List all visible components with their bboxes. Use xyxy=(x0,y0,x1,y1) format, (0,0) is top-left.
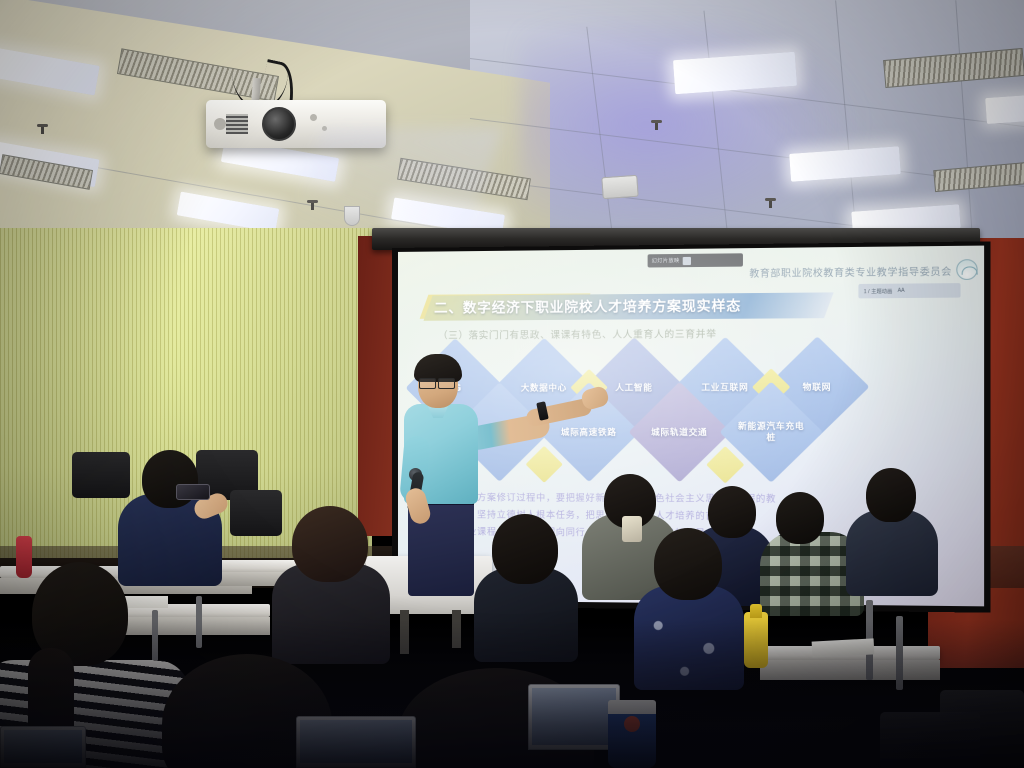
ceiling-speaker xyxy=(601,175,638,199)
projector-lens-icon xyxy=(262,107,296,141)
sprinkler-head xyxy=(654,120,659,134)
ceiling-blue-glow xyxy=(520,20,880,250)
laptop-center[interactable] xyxy=(528,684,620,750)
person-torso xyxy=(634,586,744,690)
photo-scene: 幻灯片放映 教育部职业院校教育类专业教学指导委员会 1 / 主题动画 AA 二、… xyxy=(0,0,1024,768)
red-water-bottle xyxy=(16,536,32,578)
person-torso xyxy=(846,510,938,596)
person-head xyxy=(292,506,368,582)
coffee-cup xyxy=(608,700,656,768)
laptop-screen xyxy=(532,688,616,745)
desk-front-panel xyxy=(760,660,940,680)
ceiling-light-panel xyxy=(985,94,1024,124)
slideshow-status-bar[interactable]: 幻灯片放映 xyxy=(648,253,743,267)
laptop-screen xyxy=(4,730,82,763)
laptop-far-left[interactable] xyxy=(0,726,86,768)
lectern-leg xyxy=(400,610,409,654)
projector-focus-ring xyxy=(214,118,226,130)
paper-document xyxy=(812,638,875,657)
projector-knob xyxy=(310,114,317,121)
person-head xyxy=(866,468,916,522)
bottle-cap xyxy=(750,604,762,618)
yellow-water-bottle xyxy=(744,612,768,668)
cup-logo-icon xyxy=(624,716,640,732)
page-indicator: 1 / 主题动画 xyxy=(864,287,893,294)
person-head xyxy=(654,528,722,600)
laptop-screen xyxy=(300,720,412,763)
sprinkler-head xyxy=(768,198,773,212)
chair-leg xyxy=(196,596,202,648)
person-head xyxy=(492,514,558,584)
sprinkler-head xyxy=(40,124,45,138)
person-photographing xyxy=(116,450,226,580)
person-back-row xyxy=(846,468,938,592)
smartphone xyxy=(176,484,210,500)
person-dark-hair-mid xyxy=(474,514,578,654)
chair-backrest xyxy=(880,712,980,768)
laptop-left[interactable] xyxy=(296,716,416,768)
committee-logo-icon xyxy=(956,259,977,280)
ceiling xyxy=(0,0,1024,252)
chair-leg xyxy=(896,616,903,690)
slide-org-header: 教育部职业院校教育类专业教学指导委员会 xyxy=(749,264,952,280)
slideshow-status-label: 幻灯片放映 xyxy=(652,257,680,264)
person-brown-hair xyxy=(272,506,390,656)
pen-icon[interactable] xyxy=(683,256,691,264)
font-size-label: AA xyxy=(898,288,905,294)
person-head xyxy=(776,492,824,544)
projector-vent xyxy=(226,114,248,134)
glasses-icon xyxy=(419,378,457,387)
slide-toolbar[interactable]: 1 / 主题动画 AA xyxy=(858,283,960,298)
slide-title: 二、数字经济下职业院校人才培养方案现实样态 xyxy=(434,294,846,319)
slide-subtitle: （三）落实门门有思政、课课有特色、人人重育人的三育并举 xyxy=(438,326,717,342)
person-navy-blouse xyxy=(634,528,744,678)
lectern-leg xyxy=(452,610,461,648)
